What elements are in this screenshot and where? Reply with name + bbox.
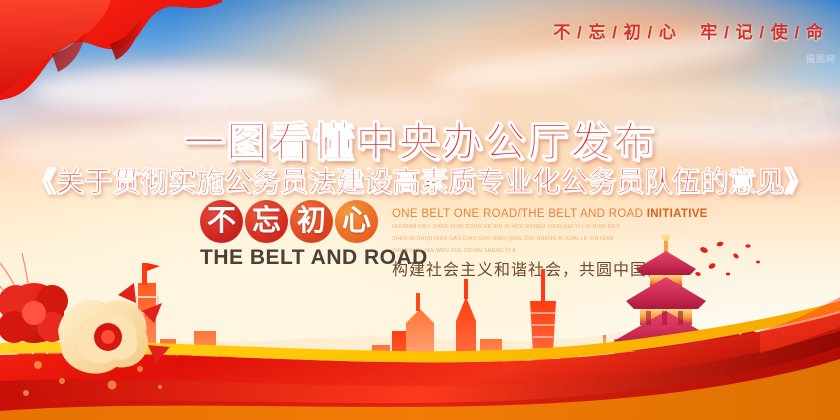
slogan-char: 命 <box>806 23 824 42</box>
slogan-char: 初 <box>624 23 642 42</box>
badge-char: 不 <box>200 200 243 243</box>
slogan-char: 牢 <box>700 23 718 42</box>
slogan-char: 忘 <box>589 23 607 42</box>
badge-char: 初 <box>290 200 333 243</box>
page-subtitle: 《关于贯彻实施公务员法建设高素质专业化公务员队伍的意见》 <box>0 160 840 200</box>
slogan-sep: / <box>647 23 653 42</box>
top-right-slogan: 不 / 忘 / 初 / 心 牢 / 记 / 使 / 命 <box>553 18 824 43</box>
english-text-block: ONE BELT ONE ROAD/THE BELT AND ROAD INIT… <box>392 208 652 256</box>
english-title: ONE BELT ONE ROAD/THE BELT AND ROAD INIT… <box>392 208 652 220</box>
slogan-sep: / <box>612 23 618 42</box>
pinyin-line: HOUMAN DALI JIANG FURI DONG HE XIN XI HO… <box>392 222 652 232</box>
slogan-sep: / <box>577 23 583 42</box>
belt-and-road-lockup: 不 忘 初 心 THE BELT AND ROAD <box>200 200 378 270</box>
pinyin-line: SHEN MI SHIQI NIAN GAO DIAO GUO NIAN QIN… <box>392 234 652 244</box>
slogan-sep: / <box>759 23 765 42</box>
badge-char: 忘 <box>245 200 288 243</box>
belt-and-road-tagline: THE BELT AND ROAD <box>200 246 378 270</box>
slogan-char: 使 <box>771 23 789 42</box>
slogan-sep: / <box>724 23 730 42</box>
english-title-light: ONE BELT ONE ROAD/THE BELT AND ROAD <box>392 208 647 220</box>
slogan-char: 心 <box>659 23 677 42</box>
chinese-slogan: 构建社会主义和谐社会，共圆中国梦 <box>392 256 664 280</box>
slogan-char: 不 <box>553 23 571 42</box>
page-title: 一图看懂中央办公厅发布 <box>0 108 840 168</box>
peony-flowers <box>0 253 170 374</box>
slogan-sep: / <box>795 23 801 42</box>
slogan-char: 记 <box>736 23 754 42</box>
poster-canvas: 不 / 忘 / 初 / 心 牢 / 记 / 使 / 命 摄图网 一图看懂中央办公… <box>0 0 840 420</box>
watermark-text: 摄图网 <box>806 52 836 65</box>
badge-row: 不 忘 初 心 <box>200 200 378 243</box>
english-title-bold: INITIATIVE <box>647 208 708 220</box>
pinyin-line: ZHU FU YU YAN WEN XUE ZIDIAN SHENG YI A <box>392 246 652 256</box>
badge-char: 心 <box>335 200 378 243</box>
city-skyline <box>18 263 714 403</box>
falling-petals <box>690 240 800 310</box>
